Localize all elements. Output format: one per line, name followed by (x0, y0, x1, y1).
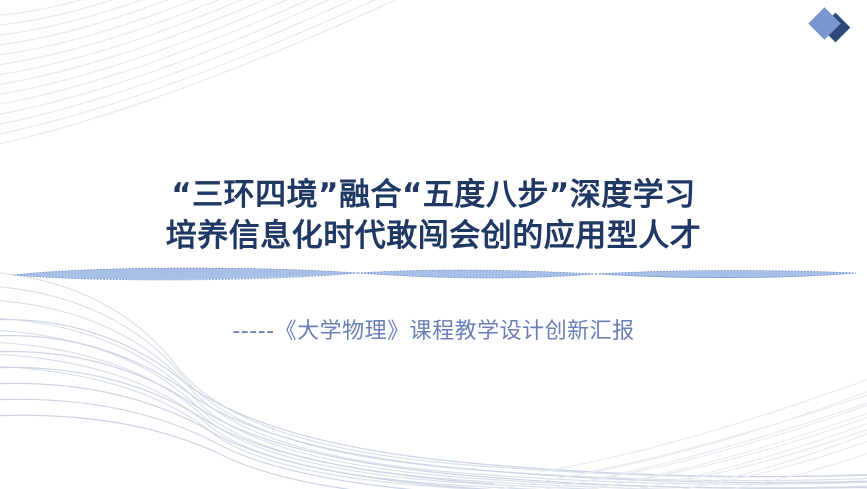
page-title: “三环四境”融合“五度八步”深度学习 培养信息化时代敢闯会创的应用型人才 (0, 175, 867, 257)
subtitle: -----《大学物理》课程教学设计创新汇报 (0, 316, 867, 348)
subtitle-text: -----《大学物理》课程教学设计创新汇报 (0, 316, 867, 348)
diamond-logo (801, 4, 853, 52)
title-line-1: “三环四境”融合“五度八步”深度学习 (0, 175, 867, 216)
title-slide: “三环四境”融合“五度八步”深度学习 培养信息化时代敢闯会创的应用型人才 ---… (0, 0, 867, 489)
divider-band (0, 258, 867, 290)
title-line-2: 培养信息化时代敢闯会创的应用型人才 (0, 216, 867, 257)
